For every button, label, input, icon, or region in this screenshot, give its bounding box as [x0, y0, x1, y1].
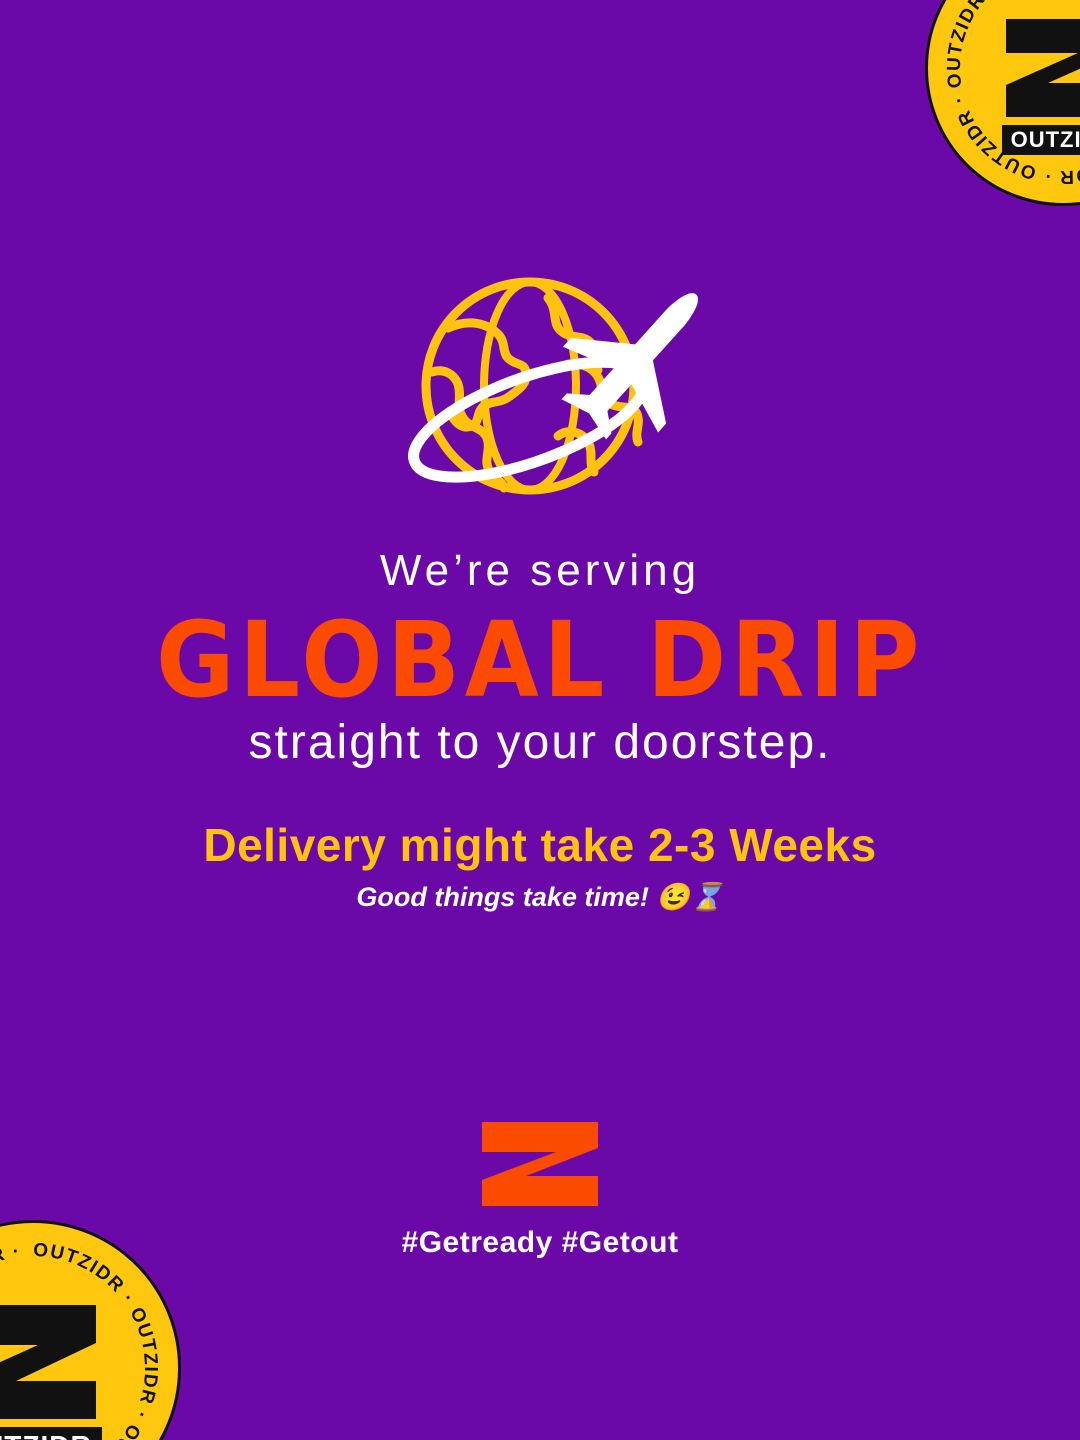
brand-badge-top-right: OUTZIDR · OUTZIDR · OUTZIDR · OUTZIDR · …: [925, 0, 1080, 206]
delivery-notice-block: Delivery might take 2-3 Weeks Good thing…: [0, 820, 1080, 912]
headline-post-text: straight to your doorstep.: [0, 718, 1080, 768]
headline-main-text: GLOBAL DRIP: [43, 608, 1037, 712]
footer-block: #Getready #Getout: [0, 1118, 1080, 1260]
badge-wordmark-top-right: OUTZIDR: [1011, 127, 1080, 152]
globe-illustration: [352, 276, 728, 512]
delivery-main-text: Delivery might take 2-3 Weeks: [0, 820, 1080, 871]
footer-hashtags: #Getready #Getout: [0, 1226, 1080, 1260]
poster-canvas: OUTZIDR · OUTZIDR · OUTZIDR · OUTZIDR · …: [0, 0, 1080, 1440]
delivery-sub-text: Good things take time! 😉⌛: [0, 883, 1080, 913]
headline-block: We’re serving GLOBAL DRIP straight to yo…: [0, 548, 1080, 769]
globe-with-airplane-icon: [352, 276, 728, 512]
outzidr-z-logo: [478, 1118, 602, 1210]
headline-pre-text: We’re serving: [0, 548, 1080, 594]
badge-wordmark-bottom-left: OUTZIDR: [0, 1430, 92, 1440]
badge-z-mark-top-right: OUTZIDR: [928, 0, 1080, 203]
